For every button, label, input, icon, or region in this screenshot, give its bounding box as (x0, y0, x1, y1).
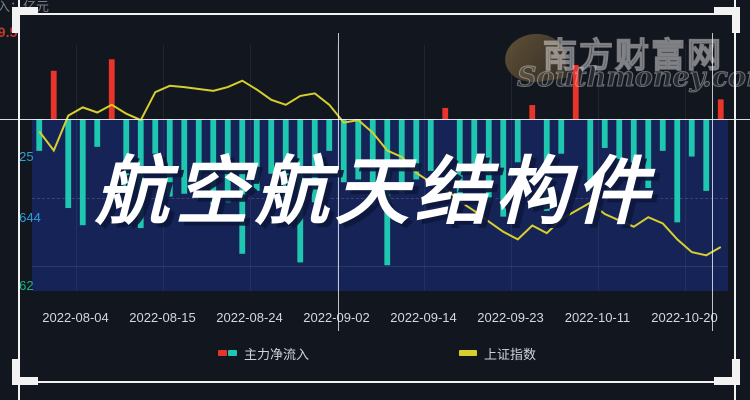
y-axis-tick-label: -3.62 (18, 278, 34, 293)
legend-swatch-main-net-inflow (218, 350, 237, 356)
x-axis-tick-label: 2022-10-11 (565, 310, 631, 325)
x-axis-tick-label: 2022-08-24 (216, 310, 283, 325)
chart-legend: 主力净流入 上证指数 (18, 341, 736, 365)
bar (573, 65, 579, 119)
bar (602, 119, 608, 148)
chart-page: 流入：亿元 39.5 0-1.25-2.644-3.62 2022-08-042… (0, 0, 750, 400)
crosshair-horizontal (0, 119, 750, 120)
bar (718, 99, 724, 119)
x-axis-tick-label: 2022-09-02 (303, 310, 370, 325)
x-axis-tick-label: 2022-09-23 (477, 310, 544, 325)
bar (689, 119, 695, 156)
metric-label: 流入：亿元 (0, 0, 49, 15)
x-axis-tick-label: 2022-08-04 (42, 310, 109, 325)
legend-item-main-net-inflow[interactable]: 主力净流入 (218, 344, 309, 363)
bar (529, 105, 535, 119)
legend-item-sse-index[interactable]: 上证指数 (459, 344, 536, 363)
x-axis-tick-label: 2022-09-14 (390, 310, 457, 325)
headline-title: 航空航天结构件 (0, 155, 750, 229)
x-axis-tick-label: 2022-10-20 (651, 310, 718, 325)
legend-swatch-sse-index (459, 350, 477, 356)
bar (51, 71, 57, 120)
bar (660, 119, 666, 150)
legend-label-sse-index: 上证指数 (484, 344, 536, 363)
legend-label-main-net-inflow: 主力净流入 (244, 344, 309, 363)
bar (442, 108, 448, 119)
bar (326, 119, 332, 150)
x-axis-tick-label: 2022-08-15 (129, 310, 196, 325)
bar (94, 119, 100, 146)
metric-value: 39.5 (0, 24, 17, 40)
bar (109, 59, 115, 119)
